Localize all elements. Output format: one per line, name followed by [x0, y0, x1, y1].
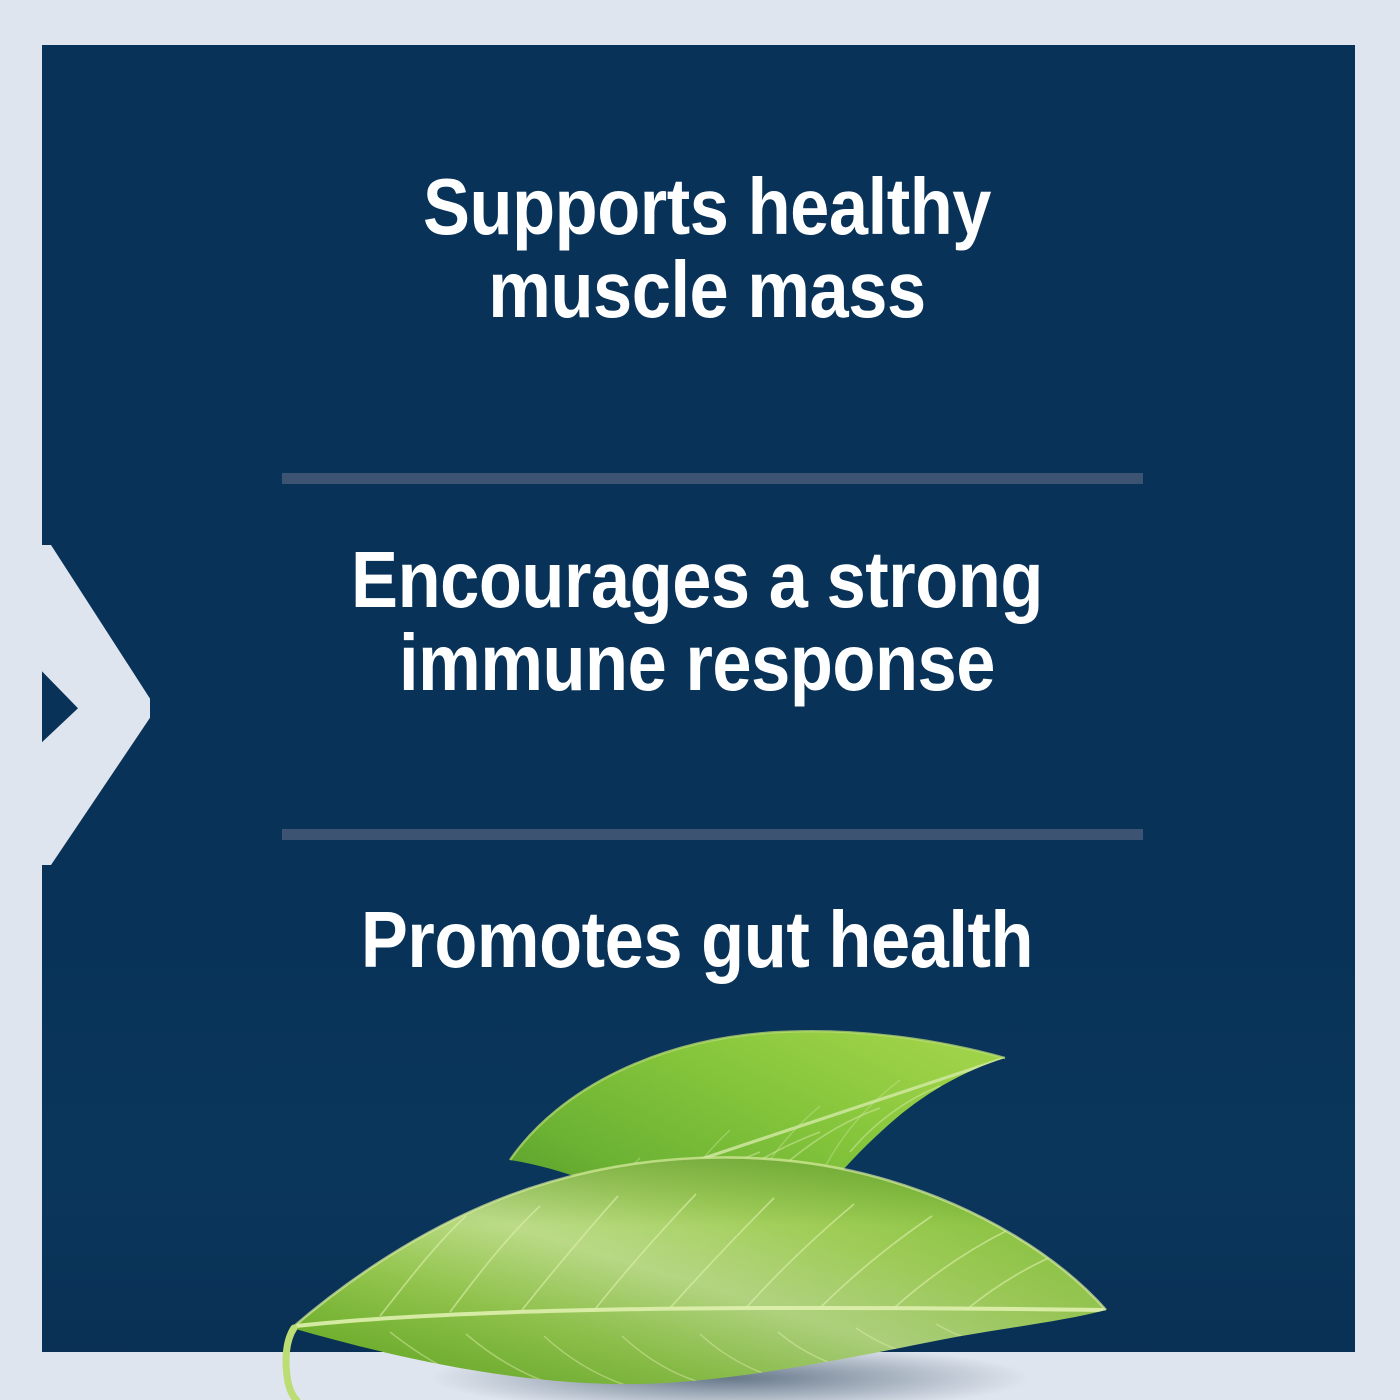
benefit-headline-2: Encourages a strong immune response [173, 538, 1220, 704]
benefit-headline-1: Supports healthy muscle mass [210, 165, 1204, 331]
benefit-headline-3: Promotes gut health [173, 898, 1220, 981]
marketing-banner: Supports healthy muscle mass Encourages … [0, 0, 1400, 1400]
benefit-divider-2 [282, 829, 1143, 840]
benefit-divider-1 [282, 473, 1143, 484]
green-leaves-image [260, 1010, 1120, 1400]
